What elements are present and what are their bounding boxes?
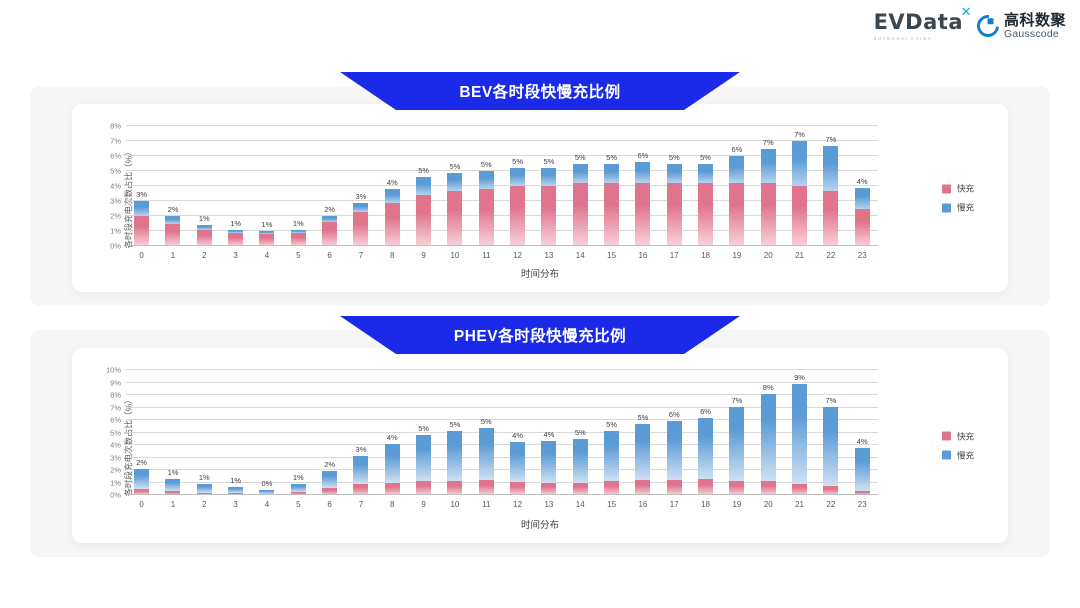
bev-bar-column[interactable]: 3%0: [126, 126, 157, 246]
phev-bar-column[interactable]: 4%13: [533, 370, 564, 495]
evdata-x-icon: ✕: [961, 6, 972, 19]
phev-bar-column[interactable]: 5%16: [627, 370, 658, 495]
bev-bar-value-label: 5%: [418, 166, 429, 175]
gausscode-cn-name: 高科数聚: [1004, 13, 1066, 29]
phev-bar-segment-slow: [573, 439, 588, 483]
bev-bar-value-label: 3%: [356, 192, 367, 201]
bev-bar-column[interactable]: 7%21: [784, 126, 815, 246]
bev-bar-column[interactable]: 2%6: [314, 126, 345, 246]
bev-legend-label-slow: 慢充: [957, 202, 974, 214]
bev-y-tick-label: 8%: [110, 122, 121, 131]
section-bev: 各时段充电次数占比（%） 0%1%2%3%4%5%6%7%8% 3%02%11%…: [30, 86, 1050, 306]
bev-bar-column[interactable]: 1%2: [189, 126, 220, 246]
bev-x-tick-label: 21: [795, 251, 804, 260]
phev-bar-segment-slow: [855, 448, 870, 491]
phev-x-tick-label: 18: [701, 500, 710, 509]
phev-legend: 快充 慢充: [942, 430, 974, 461]
bev-title-banner: BEV各时段快慢充比例: [340, 72, 740, 110]
phev-bar-column[interactable]: 7%22: [815, 370, 846, 495]
bev-legend-item-slow[interactable]: 慢充: [942, 202, 974, 214]
phev-x-tick-label: 5: [296, 500, 300, 509]
phev-x-axis-line: [126, 494, 878, 495]
phev-bar-value-label: 2%: [136, 458, 147, 467]
bev-x-tick-label: 23: [858, 251, 867, 260]
phev-bar-segment-slow: [385, 444, 400, 483]
phev-bar-column[interactable]: 5%14: [565, 370, 596, 495]
bev-bar-segment-fast: [667, 183, 682, 246]
bev-bar-segment-slow: [385, 189, 400, 203]
phev-bar-value-label: 1%: [199, 473, 210, 482]
bev-bar-column[interactable]: 5%17: [659, 126, 690, 246]
phev-x-tick-label: 23: [858, 500, 867, 509]
phev-bar-column[interactable]: 4%23: [847, 370, 878, 495]
phev-bar-value-label: 6%: [669, 410, 680, 419]
evdata-wordmark: EVData ✕: [874, 12, 963, 33]
phev-bar-value-label: 3%: [356, 445, 367, 454]
phev-bar-value-label: 5%: [637, 413, 648, 422]
phev-x-tick-label: 20: [764, 500, 773, 509]
phev-bar-segment-fast: [635, 480, 650, 495]
phev-bar-column[interactable]: 4%12: [502, 370, 533, 495]
bev-bar-stack: 6%: [729, 156, 744, 246]
phev-bar-segment-slow: [322, 471, 337, 488]
bev-bar-stack: 5%: [573, 164, 588, 247]
bev-x-tick-label: 16: [638, 251, 647, 260]
bev-bar-column[interactable]: 5%13: [533, 126, 564, 246]
phev-bar-column[interactable]: 1%3: [220, 370, 251, 495]
gausscode-text-block: 高科数聚 Gausscode: [1004, 13, 1066, 40]
phev-bar-column[interactable]: 6%17: [659, 370, 690, 495]
bev-x-tick-label: 4: [265, 251, 269, 260]
bev-bar-value-label: 6%: [637, 151, 648, 160]
bev-bar-stack: 2%: [322, 216, 337, 246]
bev-bars: 3%02%11%21%31%41%52%63%74%85%95%105%115%…: [126, 126, 878, 246]
phev-x-tick-label: 0: [139, 500, 143, 509]
phev-bar-value-label: 6%: [700, 407, 711, 416]
bev-legend-swatch-slow: [942, 203, 951, 212]
phev-bar-segment-fast: [447, 481, 462, 495]
phev-bar-segment-fast: [698, 479, 713, 495]
bev-bar-stack: 4%: [855, 188, 870, 247]
phev-y-tick-label: 3%: [110, 453, 121, 462]
bev-bar-stack: 5%: [698, 164, 713, 247]
phev-bar-column[interactable]: 1%5: [283, 370, 314, 495]
phev-y-tick-label: 5%: [110, 428, 121, 437]
phev-bar-stack: 9%: [792, 384, 807, 495]
bev-bar-stack: 7%: [792, 141, 807, 246]
bev-bar-stack: 5%: [667, 164, 682, 247]
bev-bar-value-label: 5%: [669, 153, 680, 162]
bev-bar-column[interactable]: 6%19: [721, 126, 752, 246]
bev-bar-segment-fast: [479, 189, 494, 246]
phev-y-tick-label: 1%: [110, 478, 121, 487]
phev-bar-value-label: 4%: [544, 430, 555, 439]
bev-bar-segment-slow: [667, 164, 682, 184]
phev-bar-segment-fast: [479, 480, 494, 495]
phev-bar-value-label: 7%: [731, 396, 742, 405]
bev-bar-segment-slow: [165, 216, 180, 224]
phev-bar-stack: 6%: [667, 421, 682, 495]
bev-x-tick-label: 9: [421, 251, 425, 260]
phev-bar-segment-slow: [510, 442, 525, 482]
bev-bar-segment-fast: [447, 191, 462, 246]
bev-bar-segment-fast: [322, 222, 337, 246]
phev-bar-value-label: 1%: [168, 468, 179, 477]
bev-x-tick-label: 5: [296, 251, 300, 260]
phev-bar-column[interactable]: 9%21: [784, 370, 815, 495]
bev-bar-segment-slow: [823, 146, 838, 191]
phev-y-tick-label: 4%: [110, 441, 121, 450]
bev-bar-column[interactable]: 6%16: [627, 126, 658, 246]
bev-bar-segment-fast: [197, 230, 212, 247]
bev-bar-segment-fast: [134, 216, 149, 246]
bev-x-tick-label: 15: [607, 251, 616, 260]
evdata-subtitle: SHANGHAI CHINA: [874, 36, 932, 41]
bev-bar-segment-fast: [291, 233, 306, 247]
phev-bar-stack: 5%: [604, 431, 619, 495]
bev-bar-segment-slow: [541, 168, 556, 186]
logo-bar: EVData ✕ SHANGHAI CHINA 高科数聚 Gausscode: [874, 12, 1066, 41]
phev-bar-column[interactable]: 3%7: [345, 370, 376, 495]
bev-bar-segment-slow: [698, 164, 713, 184]
phev-x-tick-label: 13: [544, 500, 553, 509]
bev-legend-item-fast[interactable]: 快充: [942, 183, 974, 195]
phev-bar-value-label: 1%: [230, 476, 241, 485]
phev-y-tick-label: 2%: [110, 466, 121, 475]
bev-bar-stack: 7%: [823, 146, 838, 247]
bev-bar-column[interactable]: 5%12: [502, 126, 533, 246]
bev-bar-segment-slow: [604, 164, 619, 184]
bev-bar-segment-slow: [447, 173, 462, 191]
phev-y-tick-label: 9%: [110, 378, 121, 387]
phev-plot-area: 0%1%2%3%4%5%6%7%8%9%10% 2%01%11%21%30%41…: [126, 370, 878, 495]
bev-bar-segment-slow: [573, 164, 588, 184]
bev-bar-value-label: 2%: [324, 205, 335, 214]
phev-bar-value-label: 5%: [450, 420, 461, 429]
phev-x-axis-title: 时间分布: [521, 517, 559, 531]
gausscode-mark-icon: [972, 11, 1003, 42]
bev-bar-segment-fast: [604, 183, 619, 246]
bev-bar-segment-slow: [855, 188, 870, 209]
bev-x-tick-label: 14: [576, 251, 585, 260]
phev-bar-segment-slow: [447, 431, 462, 480]
bev-bar-segment-fast: [855, 209, 870, 246]
bev-bar-value-label: 6%: [731, 145, 742, 154]
phev-bar-column[interactable]: 2%6: [314, 370, 345, 495]
bev-bar-stack: 3%: [353, 203, 368, 247]
phev-x-tick-label: 15: [607, 500, 616, 509]
bev-bar-segment-slow: [353, 203, 368, 212]
bev-chart: 各时段充电次数占比（%） 0%1%2%3%4%5%6%7%8% 3%02%11%…: [72, 104, 1008, 292]
phev-bar-column[interactable]: 1%1: [157, 370, 188, 495]
phev-bar-stack: 5%: [416, 435, 431, 495]
phev-bar-column[interactable]: 6%18: [690, 370, 721, 495]
bev-bar-value-label: 3%: [136, 190, 147, 199]
bev-bar-segment-slow: [792, 141, 807, 186]
phev-x-tick-label: 19: [732, 500, 741, 509]
bev-bar-value-label: 1%: [199, 214, 210, 223]
bev-x-tick-label: 20: [764, 251, 773, 260]
phev-y-tick-label: 7%: [110, 403, 121, 412]
phev-x-tick-label: 21: [795, 500, 804, 509]
evdata-ev-text: EV: [874, 10, 906, 34]
bev-bar-value-label: 5%: [700, 153, 711, 162]
phev-bar-value-label: 2%: [324, 460, 335, 469]
phev-bar-stack: 4%: [385, 444, 400, 495]
bev-bar-value-label: 2%: [168, 205, 179, 214]
phev-bar-value-label: 4%: [387, 433, 398, 442]
phev-bar-segment-fast: [667, 480, 682, 495]
bev-bar-segment-slow: [729, 156, 744, 183]
phev-y-tick-label: 0%: [110, 491, 121, 500]
bev-bar-stack: 5%: [447, 173, 462, 247]
phev-x-tick-label: 11: [482, 500, 490, 509]
bev-plot-area: 0%1%2%3%4%5%6%7%8% 3%02%11%21%31%41%52%6…: [126, 126, 878, 246]
bev-bar-stack: 7%: [761, 149, 776, 247]
phev-title-text: PHEV各时段快慢充比例: [454, 324, 626, 346]
bev-bar-stack: 6%: [635, 162, 650, 246]
bev-x-tick-label: 13: [544, 251, 553, 260]
evdata-data-text: Data: [905, 10, 963, 34]
phev-bar-stack: 7%: [823, 407, 838, 495]
phev-bar-segment-slow: [635, 424, 650, 480]
phev-x-tick-label: 6: [327, 500, 331, 509]
phev-bar-column[interactable]: 7%19: [721, 370, 752, 495]
bev-bar-segment-fast: [541, 186, 556, 246]
phev-bar-stack: 6%: [698, 418, 713, 495]
bev-bar-segment-fast: [510, 186, 525, 246]
bev-bar-column[interactable]: 1%4: [251, 126, 282, 246]
phev-x-tick-label: 2: [202, 500, 206, 509]
bev-bar-value-label: 5%: [450, 162, 461, 171]
bev-bar-stack: 1%: [197, 225, 212, 246]
bev-bar-stack: 5%: [604, 164, 619, 247]
bev-bar-value-label: 7%: [763, 138, 774, 147]
phev-bar-stack: 4%: [541, 441, 556, 495]
bev-y-tick-label: 6%: [110, 152, 121, 161]
gausscode-logo: 高科数聚 Gausscode: [977, 13, 1066, 40]
bev-bar-stack: 1%: [291, 230, 306, 247]
bev-y-tick-label: 5%: [110, 167, 121, 176]
bev-bar-stack: 5%: [479, 171, 494, 246]
phev-bar-stack: 7%: [729, 407, 744, 495]
bev-bar-column[interactable]: 5%14: [565, 126, 596, 246]
phev-bar-segment-slow: [479, 428, 494, 481]
bev-bar-segment-fast: [635, 183, 650, 246]
bev-bar-column[interactable]: 5%18: [690, 126, 721, 246]
phev-x-tick-label: 10: [450, 500, 459, 509]
bev-bar-column[interactable]: 4%8: [377, 126, 408, 246]
bev-bar-segment-fast: [165, 224, 180, 247]
phev-bar-segment-slow: [165, 479, 180, 491]
phev-bar-stack: 8%: [761, 394, 776, 495]
phev-x-tick-label: 12: [513, 500, 522, 509]
bev-bar-stack: 1%: [259, 231, 274, 246]
phev-x-tick-label: 22: [826, 500, 835, 509]
bev-bar-segment-slow: [134, 201, 149, 216]
bev-title-text: BEV各时段快慢充比例: [459, 80, 620, 102]
bev-bar-value-label: 5%: [512, 157, 523, 166]
phev-y-tick-label: 8%: [110, 391, 121, 400]
phev-bar-column[interactable]: 4%8: [377, 370, 408, 495]
phev-legend-label-fast: 快充: [957, 430, 974, 442]
bev-y-tick-label: 7%: [110, 137, 121, 146]
bev-y-tick-label: 4%: [110, 182, 121, 191]
bev-x-tick-label: 3: [233, 251, 237, 260]
phev-x-tick-label: 4: [265, 500, 269, 509]
bev-bar-stack: 1%: [228, 230, 243, 247]
phev-bar-stack: 4%: [855, 448, 870, 495]
phev-legend-item-slow[interactable]: 慢充: [942, 449, 974, 461]
bev-bar-value-label: 4%: [387, 178, 398, 187]
bev-bar-segment-fast: [573, 183, 588, 246]
bev-bar-stack: 3%: [134, 201, 149, 246]
phev-bar-segment-slow: [541, 441, 556, 482]
phev-bar-value-label: 4%: [512, 431, 523, 440]
phev-bar-segment-slow: [792, 384, 807, 484]
bev-bar-column[interactable]: 3%7: [345, 126, 376, 246]
phev-bar-segment-slow: [291, 484, 306, 492]
bev-bar-value-label: 5%: [606, 153, 617, 162]
phev-bar-segment-slow: [761, 394, 776, 482]
phev-bar-segment-slow: [729, 407, 744, 481]
phev-bar-column[interactable]: 0%4: [251, 370, 282, 495]
bev-y-tick-label: 3%: [110, 197, 121, 206]
bev-x-tick-label: 11: [482, 251, 490, 260]
bev-bar-column[interactable]: 7%22: [815, 126, 846, 246]
phev-bar-stack: 5%: [573, 439, 588, 495]
evdata-logo: EVData ✕ SHANGHAI CHINA: [874, 12, 963, 41]
bev-bar-column[interactable]: 1%5: [283, 126, 314, 246]
bev-y-tick-label: 0%: [110, 242, 121, 251]
bev-bar-segment-slow: [479, 171, 494, 189]
phev-x-tick-label: 3: [233, 500, 237, 509]
bev-x-tick-label: 10: [450, 251, 459, 260]
phev-bar-column[interactable]: 5%10: [439, 370, 470, 495]
bev-bar-column[interactable]: 5%9: [408, 126, 439, 246]
phev-bar-value-label: 5%: [481, 417, 492, 426]
phev-bar-column[interactable]: 2%0: [126, 370, 157, 495]
phev-bar-column[interactable]: 5%9: [408, 370, 439, 495]
bev-bar-segment-fast: [729, 183, 744, 246]
bev-bar-segment-fast: [385, 203, 400, 247]
gausscode-en-name: Gausscode: [1004, 29, 1066, 40]
bev-legend-label-fast: 快充: [957, 183, 974, 195]
phev-bar-value-label: 5%: [606, 420, 617, 429]
phev-bar-stack: 5%: [479, 428, 494, 496]
bev-bar-value-label: 1%: [293, 219, 304, 228]
phev-bar-column[interactable]: 8%20: [753, 370, 784, 495]
bev-bar-segment-slow: [635, 162, 650, 183]
bev-y-tick-label: 1%: [110, 227, 121, 236]
bev-x-tick-label: 2: [202, 251, 206, 260]
bev-x-tick-label: 17: [670, 251, 679, 260]
phev-bar-value-label: 7%: [825, 396, 836, 405]
phev-bar-value-label: 9%: [794, 373, 805, 382]
bev-x-tick-label: 22: [826, 251, 835, 260]
bev-bar-stack: 5%: [541, 168, 556, 246]
bev-bar-value-label: 1%: [262, 220, 273, 229]
bev-bar-column[interactable]: 5%10: [439, 126, 470, 246]
bev-bar-segment-fast: [823, 191, 838, 247]
bev-bar-column[interactable]: 5%15: [596, 126, 627, 246]
phev-bar-segment-slow: [353, 456, 368, 485]
phev-bar-stack: 3%: [353, 456, 368, 495]
phev-bar-segment-fast: [729, 481, 744, 495]
phev-x-tick-label: 1: [171, 500, 175, 509]
phev-bar-value-label: 4%: [857, 437, 868, 446]
bev-x-tick-label: 18: [701, 251, 710, 260]
phev-y-tick-label: 10%: [106, 366, 121, 375]
bev-bar-segment-slow: [761, 149, 776, 184]
bev-bar-stack: 4%: [385, 189, 400, 246]
phev-bar-column[interactable]: 5%11: [471, 370, 502, 495]
phev-bar-stack: 1%: [165, 479, 180, 495]
phev-bars: 2%01%11%21%30%41%52%63%74%85%95%105%114%…: [126, 370, 878, 495]
bev-x-tick-label: 8: [390, 251, 394, 260]
phev-bar-stack: 5%: [447, 431, 462, 495]
bev-x-axis-line: [126, 245, 878, 246]
phev-legend-swatch-slow: [942, 451, 951, 460]
phev-bar-value-label: 8%: [763, 383, 774, 392]
phev-bar-segment-slow: [416, 435, 431, 481]
bev-bar-column[interactable]: 1%3: [220, 126, 251, 246]
phev-bar-value-label: 1%: [293, 473, 304, 482]
section-phev: 各时段充电次数占比（%） 0%1%2%3%4%5%6%7%8%9%10% 2%0…: [30, 330, 1050, 557]
bev-bar-column[interactable]: 4%23: [847, 126, 878, 246]
phev-title-banner: PHEV各时段快慢充比例: [340, 316, 740, 354]
bev-bar-column[interactable]: 2%1: [157, 126, 188, 246]
bev-bar-value-label: 5%: [481, 160, 492, 169]
phev-legend-item-fast[interactable]: 快充: [942, 430, 974, 442]
phev-bar-segment-slow: [823, 407, 838, 486]
bev-bar-segment-fast: [792, 186, 807, 246]
bev-legend: 快充 慢充: [942, 183, 974, 214]
bev-x-tick-label: 19: [732, 251, 741, 260]
phev-y-tick-label: 6%: [110, 416, 121, 425]
bev-bar-segment-fast: [698, 183, 713, 246]
bev-bar-column[interactable]: 7%20: [753, 126, 784, 246]
bev-bar-column[interactable]: 5%11: [471, 126, 502, 246]
bev-bar-value-label: 7%: [794, 130, 805, 139]
phev-bar-segment-slow: [698, 418, 713, 479]
phev-bar-stack: 2%: [134, 469, 149, 495]
bev-bar-segment-fast: [761, 183, 776, 246]
bev-x-tick-label: 7: [359, 251, 363, 260]
bev-x-tick-label: 0: [139, 251, 143, 260]
phev-chart: 各时段充电次数占比（%） 0%1%2%3%4%5%6%7%8%9%10% 2%0…: [72, 348, 1008, 543]
phev-bar-segment-slow: [604, 431, 619, 481]
bev-bar-segment-fast: [228, 233, 243, 247]
bev-bar-segment-slow: [416, 177, 431, 195]
phev-bar-stack: 2%: [322, 471, 337, 495]
bev-bar-value-label: 7%: [825, 135, 836, 144]
phev-bar-column[interactable]: 5%15: [596, 370, 627, 495]
phev-bar-segment-fast: [604, 481, 619, 495]
phev-x-tick-label: 8: [390, 500, 394, 509]
phev-bar-value-label: 5%: [418, 424, 429, 433]
bev-bar-value-label: 5%: [544, 157, 555, 166]
phev-bar-value-label: 5%: [575, 428, 586, 437]
phev-legend-label-slow: 慢充: [957, 449, 974, 461]
bev-bar-value-label: 1%: [230, 219, 241, 228]
slide-page: EVData ✕ SHANGHAI CHINA 高科数聚 Gausscode 各…: [0, 0, 1080, 608]
phev-bar-stack: 5%: [635, 424, 650, 495]
bev-bar-value-label: 5%: [575, 153, 586, 162]
phev-bar-stack: 4%: [510, 442, 525, 495]
phev-bar-column[interactable]: 1%2: [189, 370, 220, 495]
bev-bar-stack: 2%: [165, 216, 180, 246]
